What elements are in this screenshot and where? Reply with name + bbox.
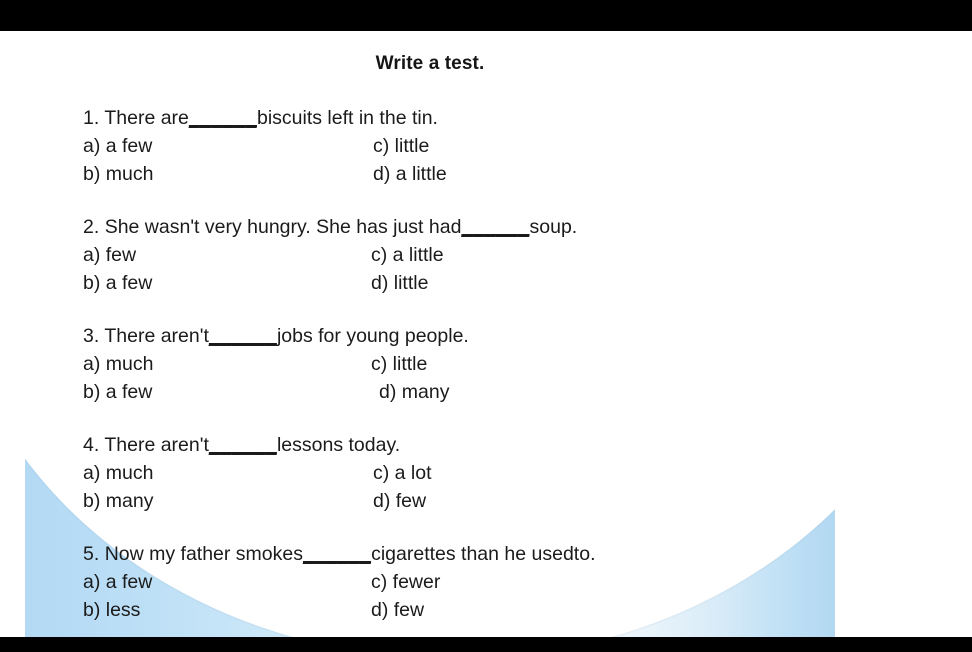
option-5-d[interactable]: d) few — [371, 596, 424, 624]
question-text-after-5: cigarettes than he usedto. — [371, 543, 595, 565]
question-number-1: 1. — [83, 107, 99, 129]
option-5-c[interactable]: c) fewer — [371, 568, 440, 596]
question-text-before-3: There aren't — [104, 325, 209, 347]
question-text-after-1: biscuits left in the tin. — [257, 107, 438, 129]
option-4-b[interactable]: b) many — [83, 487, 153, 515]
option-3-c[interactable]: c) little — [371, 350, 427, 378]
question-block-3: 3. There aren't______jobs for young peop… — [83, 323, 813, 406]
answer-blank-5: ______ — [303, 543, 371, 565]
option-row-5-bd: b) less d) few — [83, 596, 813, 624]
option-row-4-bd: b) many d) few — [83, 487, 813, 515]
option-2-d[interactable]: d) little — [371, 269, 428, 297]
option-4-c[interactable]: c) a lot — [373, 459, 432, 487]
option-row-1-ac: a) a few c) little — [83, 132, 813, 160]
question-block-4: 4. There aren't______lessons today. a) m… — [83, 432, 813, 515]
question-prompt-1: 1. There are______biscuits left in the t… — [83, 105, 813, 132]
question-prompt-5: 5. Now my father smokes______cigarettes … — [83, 541, 813, 568]
option-4-a[interactable]: a) much — [83, 459, 153, 487]
slide-content: Write a test. 1. There are______biscuits… — [25, 31, 835, 637]
question-prompt-4: 4. There aren't______lessons today. — [83, 432, 813, 459]
question-text-before-1: There are — [104, 107, 189, 129]
question-text-before-5: Now my father smokes — [105, 543, 303, 565]
presentation-slide: Write a test. 1. There are______biscuits… — [25, 31, 835, 637]
option-2-a[interactable]: a) few — [83, 241, 136, 269]
option-row-4-ac: a) much c) a lot — [83, 459, 813, 487]
option-row-3-ac: a) much c) little — [83, 350, 813, 378]
question-text-before-4: There aren't — [104, 434, 209, 456]
question-number-3: 3. — [83, 325, 99, 347]
option-row-2-bd: b) a few d) little — [83, 269, 813, 297]
question-text-before-2: She wasn't very hungry. She has just had — [105, 216, 462, 238]
question-number-4: 4. — [83, 434, 99, 456]
question-text-after-3: jobs for young people. — [277, 325, 469, 347]
answer-blank-3: ______ — [209, 325, 277, 347]
question-block-1: 1. There are______biscuits left in the t… — [83, 105, 813, 188]
question-text-after-4: lessons today. — [277, 434, 400, 456]
option-3-b[interactable]: b) a few — [83, 378, 152, 406]
question-block-2: 2. She wasn't very hungry. She has just … — [83, 214, 813, 297]
question-prompt-3: 3. There aren't______jobs for young peop… — [83, 323, 813, 350]
option-1-a[interactable]: a) a few — [83, 132, 152, 160]
option-2-b[interactable]: b) a few — [83, 269, 152, 297]
option-3-d[interactable]: d) many — [379, 378, 449, 406]
option-5-a[interactable]: a) a few — [83, 568, 152, 596]
option-row-5-ac: a) a few c) fewer — [83, 568, 813, 596]
option-2-c[interactable]: c) a little — [371, 241, 444, 269]
option-row-1-bd: b) much d) a little — [83, 160, 813, 188]
option-1-b[interactable]: b) much — [83, 160, 153, 188]
option-1-c[interactable]: c) little — [373, 132, 429, 160]
option-row-3-bd: b) a few d) many — [83, 378, 813, 406]
screenshot-frame: Write a test. 1. There are______biscuits… — [0, 0, 972, 652]
question-prompt-2: 2. She wasn't very hungry. She has just … — [83, 214, 813, 241]
option-row-2-ac: a) few c) a little — [83, 241, 813, 269]
question-number-2: 2. — [83, 216, 99, 238]
slide-title: Write a test. — [25, 53, 835, 75]
option-1-d[interactable]: d) a little — [373, 160, 447, 188]
option-3-a[interactable]: a) much — [83, 350, 153, 378]
question-text-after-2: soup. — [530, 216, 578, 238]
answer-blank-4: ______ — [209, 434, 277, 456]
question-block-5: 5. Now my father smokes______cigarettes … — [83, 541, 813, 624]
option-4-d[interactable]: d) few — [373, 487, 426, 515]
answer-blank-2: ______ — [461, 216, 529, 238]
option-5-b[interactable]: b) less — [83, 596, 140, 624]
question-number-5: 5. — [83, 543, 99, 565]
answer-blank-1: ______ — [189, 107, 257, 129]
